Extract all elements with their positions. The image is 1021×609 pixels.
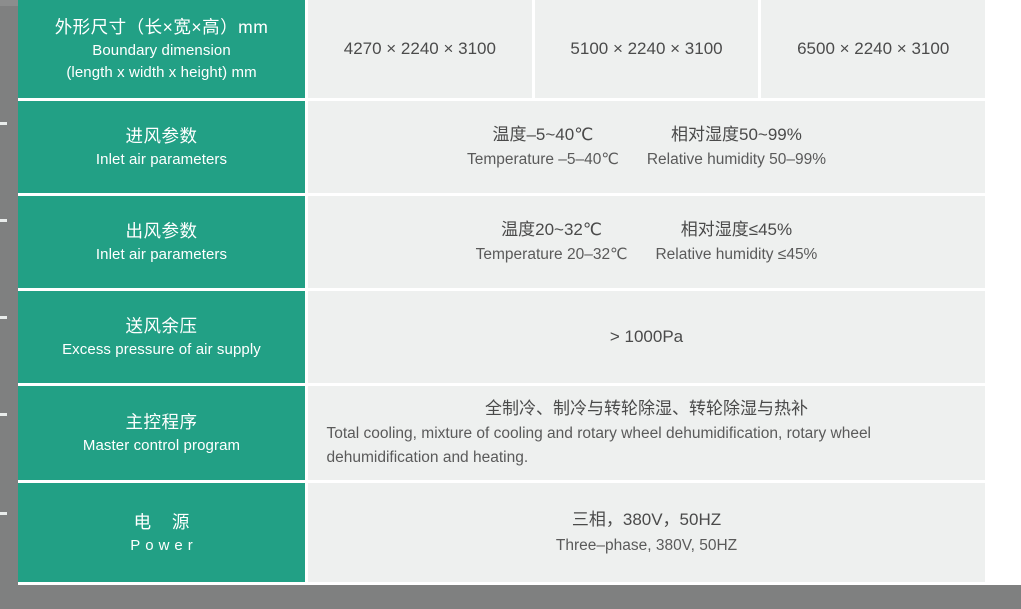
row-value-outlet-air-parameters: 温度20~32℃ Temperature 20–32℃ 相对湿度≤45% Rel… (308, 196, 985, 288)
power-en: Three–phase, 380V, 50HZ (556, 534, 737, 558)
row-tick-mark-2 (0, 219, 7, 222)
table-row: 外形尺寸（长×宽×高）mm Boundary dimension (length… (18, 0, 985, 101)
value-pair-group: 温度20~32℃ Temperature 20–32℃ 相对湿度≤45% Rel… (476, 217, 818, 267)
dimension-value-3: 6500 × 2240 × 3100 (761, 0, 985, 98)
humidity-en: Relative humidity ≤45% (655, 243, 817, 267)
row-tick-mark-4 (0, 413, 7, 416)
temperature-en: Temperature 20–32℃ (476, 243, 628, 267)
specification-table: 外形尺寸（长×宽×高）mm Boundary dimension (length… (18, 0, 985, 585)
table-row: 电 源 Power 三相，380V，50HZ Three–phase, 380V… (18, 483, 985, 582)
dimension-value-2: 5100 × 2240 × 3100 (535, 0, 762, 98)
label-en: Inlet air parameters (96, 149, 227, 171)
control-program-text-block: 全制冷、制冷与转轮除湿、转轮除湿与热补 Total cooling, mixtu… (327, 396, 967, 470)
row-label-inlet-air-parameters: 进风参数 Inlet air parameters (18, 101, 308, 193)
row-label-excess-pressure: 送风余压 Excess pressure of air supply (18, 291, 308, 383)
label-en-line1: Boundary dimension (92, 40, 231, 62)
label-cn: 主控程序 (126, 409, 198, 435)
row-label-master-control-program: 主控程序 Master control program (18, 386, 308, 480)
label-cn: 送风余压 (126, 313, 198, 339)
label-en: Excess pressure of air supply (62, 339, 261, 361)
table-row: 出风参数 Inlet air parameters 温度20~32℃ Tempe… (18, 196, 985, 291)
frame-corner-accent (0, 0, 18, 6)
temperature-en: Temperature –5–40℃ (467, 148, 619, 172)
humidity-group: 相对湿度≤45% Relative humidity ≤45% (655, 217, 817, 267)
row-tick-mark-1 (0, 122, 7, 125)
row-tick-mark-5 (0, 512, 7, 515)
excess-pressure-value: > 1000Pa (610, 324, 683, 350)
humidity-cn: 相对湿度50~99% (671, 122, 802, 148)
table-row: 送风余压 Excess pressure of air supply > 100… (18, 291, 985, 386)
label-cn: 电 源 (126, 509, 198, 535)
bottom-frame-strip (0, 585, 1021, 609)
row-label-outlet-air-parameters: 出风参数 Inlet air parameters (18, 196, 308, 288)
humidity-group: 相对湿度50~99% Relative humidity 50–99% (647, 122, 826, 172)
temperature-cn: 温度–5~40℃ (492, 122, 593, 148)
temperature-cn: 温度20~32℃ (501, 217, 602, 243)
label-en: Inlet air parameters (96, 244, 227, 266)
left-frame-strip (0, 0, 18, 585)
specification-table-page: 外形尺寸（长×宽×高）mm Boundary dimension (length… (0, 0, 1021, 609)
value-pair-group: 温度–5~40℃ Temperature –5–40℃ 相对湿度50~99% R… (467, 122, 826, 172)
label-en: Power (125, 535, 198, 557)
row-value-excess-pressure: > 1000Pa (308, 291, 985, 383)
label-en: Master control program (83, 435, 240, 457)
row-value-power: 三相，380V，50HZ Three–phase, 380V, 50HZ (308, 483, 985, 582)
table-row: 主控程序 Master control program 全制冷、制冷与转轮除湿、… (18, 386, 985, 483)
table-row: 进风参数 Inlet air parameters 温度–5~40℃ Tempe… (18, 101, 985, 196)
label-en-line2: (length x width x height) mm (66, 62, 256, 84)
control-program-en: Total cooling, mixture of cooling and ro… (327, 422, 967, 470)
row-label-boundary-dimension: 外形尺寸（长×宽×高）mm Boundary dimension (length… (18, 0, 308, 98)
label-cn: 进风参数 (126, 123, 198, 149)
power-cn: 三相，380V，50HZ (572, 507, 721, 533)
humidity-cn: 相对湿度≤45% (681, 217, 792, 243)
row-value-master-control-program: 全制冷、制冷与转轮除湿、转轮除湿与热补 Total cooling, mixtu… (308, 386, 985, 480)
row-tick-mark-3 (0, 316, 7, 319)
humidity-en: Relative humidity 50–99% (647, 148, 826, 172)
dimension-value-1: 4270 × 2240 × 3100 (308, 0, 535, 98)
label-cn: 出风参数 (126, 218, 198, 244)
label-cn: 外形尺寸（长×宽×高）mm (55, 14, 269, 40)
temperature-group: 温度20~32℃ Temperature 20–32℃ (476, 217, 628, 267)
control-program-cn: 全制冷、制冷与转轮除湿、转轮除湿与热补 (327, 396, 967, 422)
temperature-group: 温度–5~40℃ Temperature –5–40℃ (467, 122, 619, 172)
row-label-power: 电 源 Power (18, 483, 308, 582)
row-value-inlet-air-parameters: 温度–5~40℃ Temperature –5–40℃ 相对湿度50~99% R… (308, 101, 985, 193)
